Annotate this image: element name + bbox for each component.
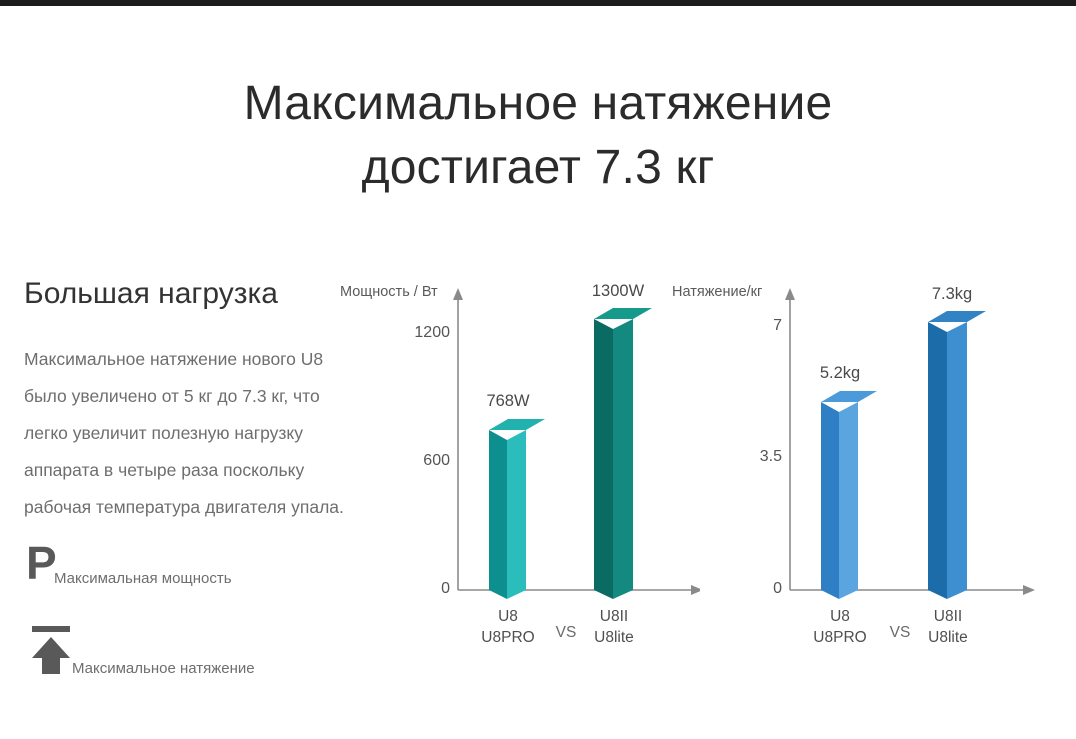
tension-bar-u8 <box>821 391 877 599</box>
tension-chart-ytick-7: 7 <box>706 317 782 335</box>
category-line-2: U8lite <box>594 629 634 646</box>
legend-item-label: Максимальное натяжение <box>72 660 255 677</box>
power-bar-u8 <box>489 419 545 599</box>
tension-chart-category-u8: U8 U8PRO <box>790 606 890 648</box>
up-arrow-bar-icon <box>28 624 74 681</box>
power-chart-value-u8: 768W <box>465 392 551 411</box>
tension-chart-ytick-0: 0 <box>706 580 782 598</box>
category-line-2: U8lite <box>928 629 968 646</box>
power-chart: Мощность / Вт 1200 600 <box>340 280 700 650</box>
power-chart-category-u8ii: U8II U8lite <box>564 606 664 648</box>
top-accent-bar <box>0 0 1076 6</box>
category-line-1: U8II <box>600 608 628 625</box>
tension-chart-value-u8: 5.2kg <box>797 364 883 383</box>
tension-chart-ytick-3-5: 3.5 <box>706 448 782 466</box>
category-line-1: U8 <box>498 608 518 625</box>
page-title-line-2: достигает 7.3 кг <box>0 136 1076 200</box>
section-heading: Большая нагрузка <box>24 277 278 311</box>
category-line-2: U8PRO <box>481 629 534 646</box>
tension-chart-value-u8ii: 7.3kg <box>904 285 1000 304</box>
tension-chart: Натяжение/кг 7 3.5 0 5.2kg 7.3kg <box>672 280 1052 650</box>
tension-bar-u8ii <box>928 311 986 599</box>
category-line-1: U8 <box>830 608 850 625</box>
power-chart-value-u8ii: 1300W <box>570 282 666 301</box>
page-title-line-1: Максимальное натяжение <box>244 77 833 130</box>
power-bar-u8ii <box>594 308 652 599</box>
power-chart-ytick-0: 0 <box>374 580 450 598</box>
legend-item-label: Максимальная мощность <box>54 570 232 587</box>
category-line-1: U8II <box>934 608 962 625</box>
page-title: Максимальное натяжение достигает 7.3 кг <box>0 72 1076 200</box>
category-line-2: U8PRO <box>813 629 866 646</box>
power-chart-ytick-600: 600 <box>374 452 450 470</box>
power-p-icon: P <box>26 540 57 586</box>
tension-chart-category-u8ii: U8II U8lite <box>898 606 998 648</box>
slide-root: Максимальное натяжение достигает 7.3 кг … <box>0 0 1076 739</box>
power-chart-ytick-1200: 1200 <box>374 324 450 342</box>
